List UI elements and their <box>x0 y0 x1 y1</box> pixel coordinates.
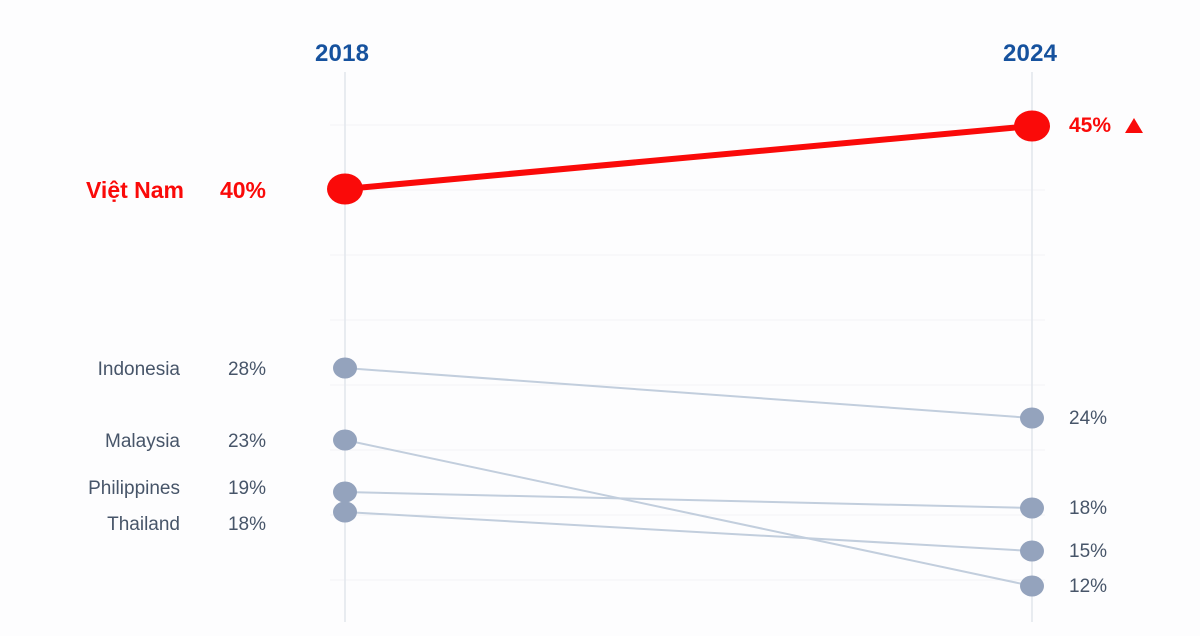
series-start-value-thailand: 18% <box>212 515 266 534</box>
slope-line-malaysia <box>345 440 1032 586</box>
gridlines <box>330 125 1045 580</box>
series-name-philippines: Philippines <box>46 479 180 498</box>
end-label-thailand: 15% <box>1069 542 1107 561</box>
axis-year-2024: 2024 <box>1003 40 1057 68</box>
end-label-malaysia: 12% <box>1069 577 1107 596</box>
dot-malaysia-2024 <box>1020 576 1044 597</box>
series-end-value-viet-nam: 45% <box>1069 115 1111 136</box>
series-name-thailand: Thailand <box>44 515 180 534</box>
series-start-value-viet-nam: 40% <box>204 179 266 202</box>
dot-viet-nam-2024 <box>1014 111 1050 142</box>
slope-line-indonesia <box>345 368 1032 418</box>
dot-philippines-2024 <box>1020 498 1044 519</box>
row-label-viet-nam: Việt Nam 40% <box>86 178 352 202</box>
triangle-up-icon <box>1125 118 1143 133</box>
dot-philippines-2018 <box>333 482 357 503</box>
axis-year-2018: 2018 <box>315 40 369 68</box>
end-label-philippines: 18% <box>1069 499 1107 518</box>
row-label-thailand: Thailand 18% <box>44 513 266 535</box>
row-label-malaysia: Malaysia 23% <box>46 430 266 452</box>
slope-line-viet-nam <box>345 126 1032 189</box>
end-label-viet-nam: 45% <box>1069 115 1143 136</box>
series-name-malaysia: Malaysia <box>46 432 180 451</box>
dot-thailand-2024 <box>1020 541 1044 562</box>
slope-chart: 2018 2024 Việt Nam 40% Indonesia 28% Mal… <box>0 0 1200 636</box>
slope-line-thailand <box>345 512 1032 551</box>
series-name-viet-nam: Việt Nam <box>86 179 182 202</box>
plot-area <box>0 0 1200 636</box>
row-label-indonesia: Indonesia 28% <box>54 358 266 380</box>
dot-thailand-2018 <box>333 502 357 523</box>
series-name-indonesia: Indonesia <box>54 360 180 379</box>
dot-malaysia-2018 <box>333 430 357 451</box>
end-label-indonesia: 24% <box>1069 409 1107 428</box>
slope-line-philippines <box>345 492 1032 508</box>
dot-indonesia-2018 <box>333 358 357 379</box>
dot-indonesia-2024 <box>1020 408 1044 429</box>
series-start-value-indonesia: 28% <box>212 360 266 379</box>
series-start-value-malaysia: 23% <box>212 432 266 451</box>
series-start-value-philippines: 19% <box>212 479 266 498</box>
row-label-philippines: Philippines 19% <box>46 477 266 499</box>
slope-lines-muted <box>345 368 1032 586</box>
